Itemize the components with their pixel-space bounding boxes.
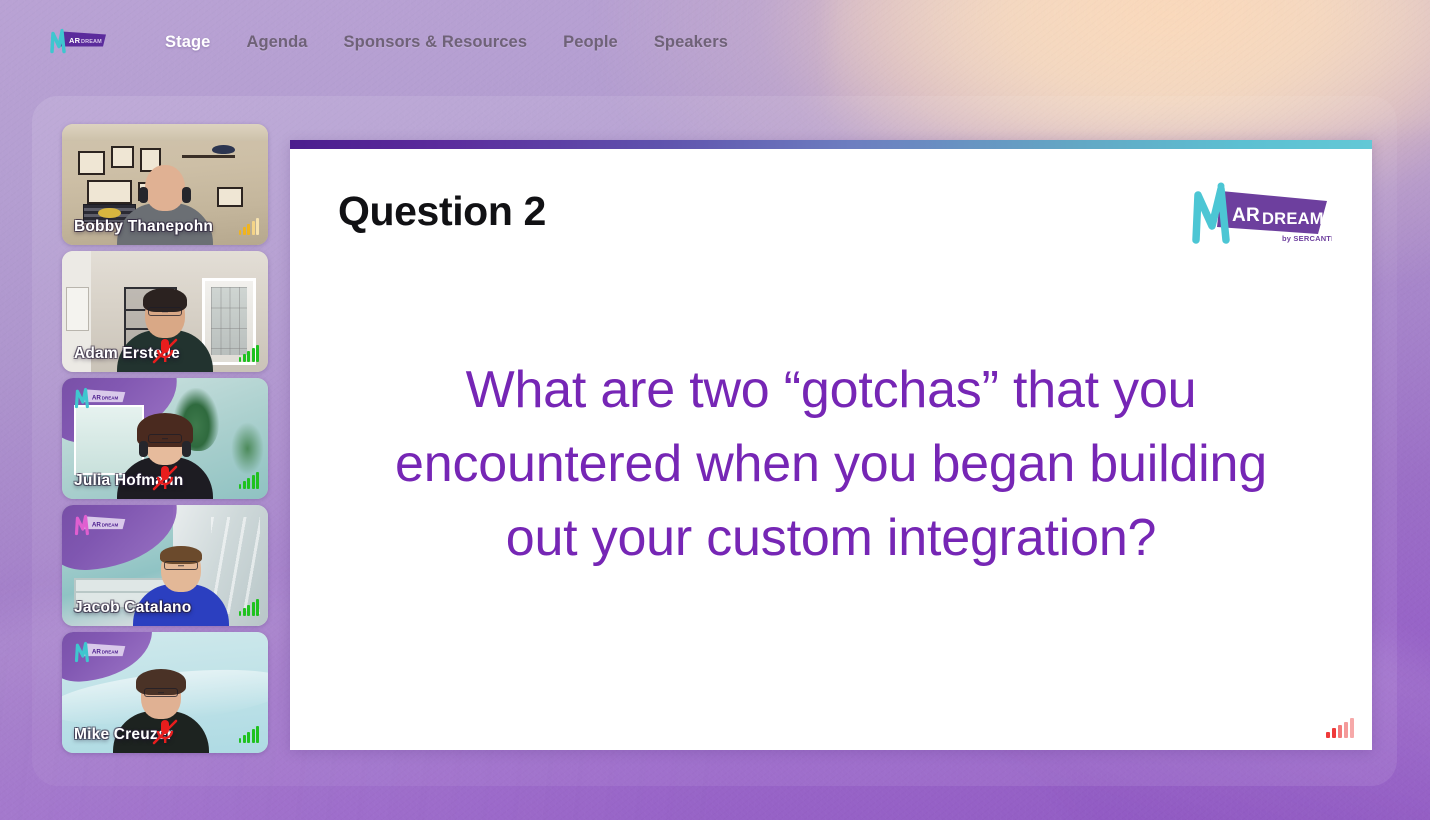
slide-accent-bar <box>290 140 1372 149</box>
top-navigation: AR DREAM Stage Agenda Sponsors & Resourc… <box>0 0 1430 84</box>
connection-signal-icon <box>239 345 259 362</box>
nav-item-stage[interactable]: Stage <box>147 29 228 56</box>
slide-connection-signal-icon <box>1326 718 1354 738</box>
mar-dreamin-pennant-logo-icon: AR DREAM <box>69 638 131 666</box>
svg-text:AR: AR <box>92 394 102 401</box>
mar-dreamin-pennant-logo-icon: AR DREAMIN' by SERCANTE <box>1184 178 1332 250</box>
svg-text:DREAMIN': DREAMIN' <box>1262 210 1332 228</box>
nav-item-people[interactable]: People <box>545 29 636 56</box>
participant-name: Jacob Catalano <box>74 599 191 617</box>
connection-signal-icon <box>239 599 259 616</box>
nav-item-agenda[interactable]: Agenda <box>228 29 325 56</box>
microphone-muted-icon <box>152 463 178 493</box>
participant-name: Bobby Thanepohn <box>74 218 213 236</box>
nav-items: Stage Agenda Sponsors & Resources People… <box>147 29 746 56</box>
svg-text:AR: AR <box>92 648 102 655</box>
presentation-slide[interactable]: Question 2 AR DREAMIN' by SERCANTE What … <box>290 140 1372 750</box>
svg-text:DREAM: DREAM <box>102 649 119 654</box>
nav-item-speakers[interactable]: Speakers <box>636 29 746 56</box>
mar-dreamin-pennant-logo-icon: AR DREAM <box>69 384 131 412</box>
mar-dreamin-pennant-logo-icon[interactable]: AR DREAM <box>47 25 109 59</box>
connection-signal-icon <box>239 726 259 743</box>
slide-question-text: What are two “gotchas” that you encounte… <box>376 354 1286 575</box>
connection-signal-icon <box>239 472 259 489</box>
svg-text:DREAM: DREAM <box>102 522 119 527</box>
svg-text:DREAM: DREAM <box>102 395 119 400</box>
mar-dreamin-pennant-logo-icon: AR DREAM <box>69 511 131 539</box>
svg-text:by SERCANTE: by SERCANTE <box>1282 234 1332 243</box>
microphone-muted-icon <box>152 336 178 366</box>
participant-tile[interactable]: AR DREAM Jacob Catalano <box>62 505 268 626</box>
slide-title: Question 2 <box>338 188 546 235</box>
connection-signal-icon <box>239 218 259 235</box>
participant-tile[interactable]: AR DREAM Mike Creuzer <box>62 632 268 753</box>
microphone-muted-icon <box>152 717 178 747</box>
nav-item-sponsors-resources[interactable]: Sponsors & Resources <box>326 29 546 56</box>
svg-text:DREAM: DREAM <box>81 39 102 45</box>
svg-text:AR: AR <box>92 521 102 528</box>
svg-text:AR: AR <box>69 36 81 45</box>
participant-tile[interactable]: Bobby Thanepohn <box>62 124 268 245</box>
participant-tile[interactable]: Adam Erstelle <box>62 251 268 372</box>
svg-text:AR: AR <box>1232 205 1260 226</box>
participant-tile[interactable]: AR DREAM Julia Hofmann <box>62 378 268 499</box>
participant-video-strip: Bobby Thanepohn Ada <box>62 124 268 753</box>
